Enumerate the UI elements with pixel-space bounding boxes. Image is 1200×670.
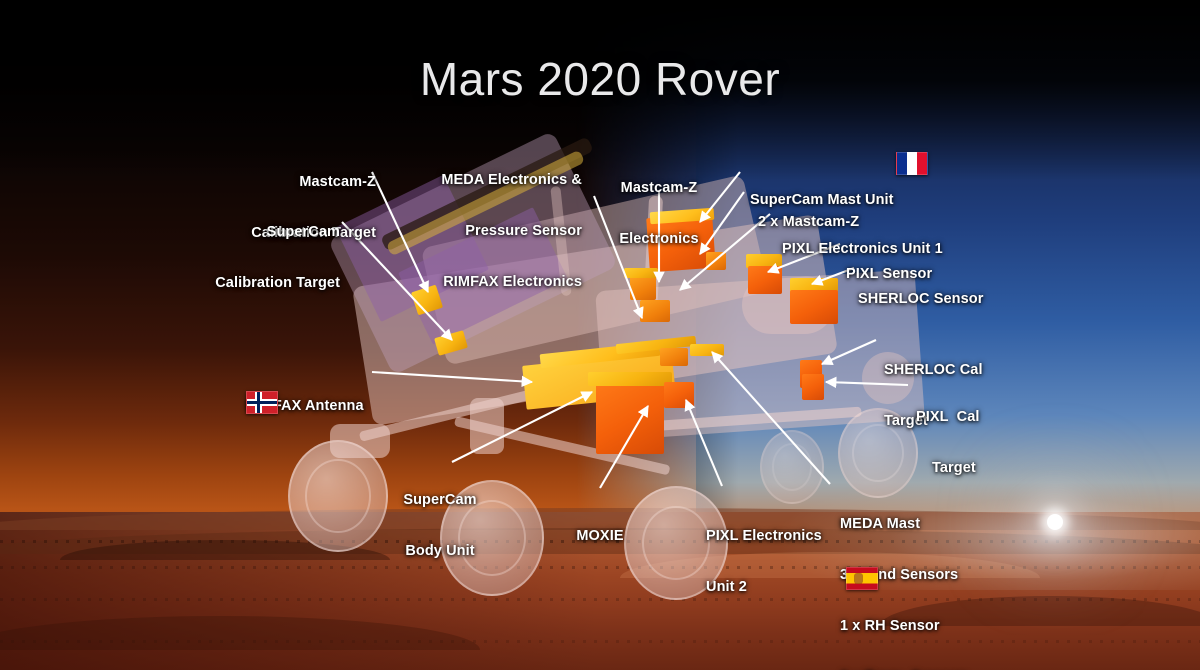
instrument-moxie <box>660 348 688 366</box>
page-title: Mars 2020 Rover <box>0 52 1200 106</box>
callout-pixl-electronics-unit-2: PIXL Electronics Unit 2 <box>706 494 822 630</box>
norway-flag-cross-vertical <box>257 392 261 413</box>
france-flag-icon <box>896 152 928 175</box>
instrument-two-mastcam-z <box>640 300 670 322</box>
callout-supercam-body-unit: SuperCam Body Unit <box>380 458 500 594</box>
callout-meda-rimfax-electronics: MEDA Electronics & Pressure Sensor RIMFA… <box>398 138 582 325</box>
spain-coat-of-arms-icon <box>855 574 862 583</box>
rover-wheel-front-left <box>288 440 388 552</box>
instrument-meda-mast <box>690 344 724 356</box>
callout-supercam-calibration-target: SuperCam Calibration Target <box>188 190 340 326</box>
instrument-pixl-electronics-unit-2 <box>664 382 694 408</box>
callout-moxie: MOXIE <box>560 494 640 579</box>
instrument-pixl-sensor <box>790 290 838 324</box>
instrument-supercam-body-unit <box>596 382 664 454</box>
instrument-pixl-cal-target <box>802 374 824 400</box>
instrument-supercam-body-unit-top <box>588 372 672 386</box>
spain-flag-icon <box>846 567 878 590</box>
norway-flag-cross-horizontal <box>247 401 277 405</box>
instrument-pixl-electronics-unit-1 <box>748 266 782 294</box>
mars-2020-rover-infographic: Mars 2020 Rover Mastcam-Z Calibration Ta… <box>0 0 1200 670</box>
callout-mastcam-z-electronics: Mastcam-Z Electronics <box>600 146 718 282</box>
norway-flag-icon <box>246 391 278 414</box>
rover-bogie-joint <box>470 398 504 454</box>
rover-wheel-far-mid <box>760 430 824 504</box>
